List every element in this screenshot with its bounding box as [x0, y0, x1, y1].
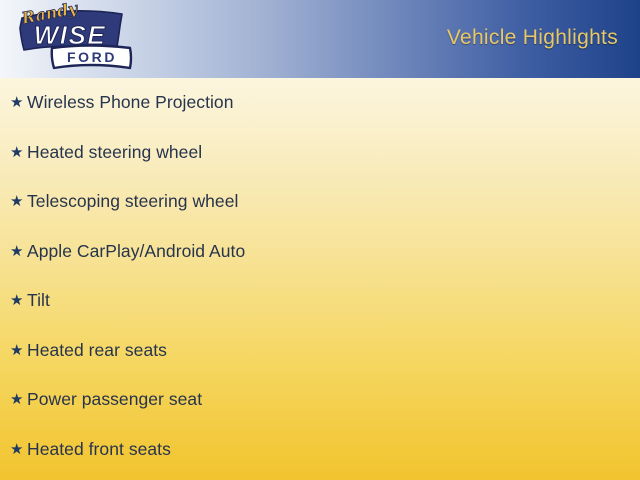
feature-label: Tilt	[27, 290, 50, 311]
star-icon: ★	[10, 244, 27, 259]
feature-label: Power passenger seat	[27, 389, 202, 410]
feature-label: Heated front seats	[27, 439, 171, 460]
list-item: ★ Apple CarPlay/Android Auto	[0, 227, 640, 277]
star-icon: ★	[10, 95, 27, 110]
list-item: ★ Power passenger seat	[0, 375, 640, 425]
feature-label: Apple CarPlay/Android Auto	[27, 241, 245, 262]
list-item: ★ Tilt	[0, 276, 640, 326]
star-icon: ★	[10, 392, 27, 407]
feature-label: Heated rear seats	[27, 340, 167, 361]
list-item: ★ Heated steering wheel	[0, 128, 640, 178]
vehicle-highlights-list: ★ Wireless Phone Projection ★ Heated ste…	[0, 78, 640, 474]
page-header: WISE FORD Randy Vehicle Highlights	[0, 0, 640, 78]
list-item: ★ Telescoping steering wheel	[0, 177, 640, 227]
feature-label: Heated steering wheel	[27, 142, 202, 163]
star-icon: ★	[10, 194, 27, 209]
logo-artwork: WISE FORD Randy	[8, 2, 138, 80]
star-icon: ★	[10, 293, 27, 308]
star-icon: ★	[10, 343, 27, 358]
list-item: ★ Heated front seats	[0, 425, 640, 475]
list-item: ★ Heated rear seats	[0, 326, 640, 376]
randy-wise-ford-logo[interactable]: WISE FORD Randy	[8, 2, 138, 80]
feature-label: Telescoping steering wheel	[27, 191, 238, 212]
feature-label: Wireless Phone Projection	[27, 92, 233, 113]
page-title: Vehicle Highlights	[447, 26, 618, 50]
list-item: ★ Wireless Phone Projection	[0, 78, 640, 128]
vehicle-highlights-page: WISE FORD Randy Vehicle Highlights ★ Wir…	[0, 0, 640, 480]
logo-ford-text: FORD	[67, 49, 117, 65]
star-icon: ★	[10, 442, 27, 457]
star-icon: ★	[10, 145, 27, 160]
